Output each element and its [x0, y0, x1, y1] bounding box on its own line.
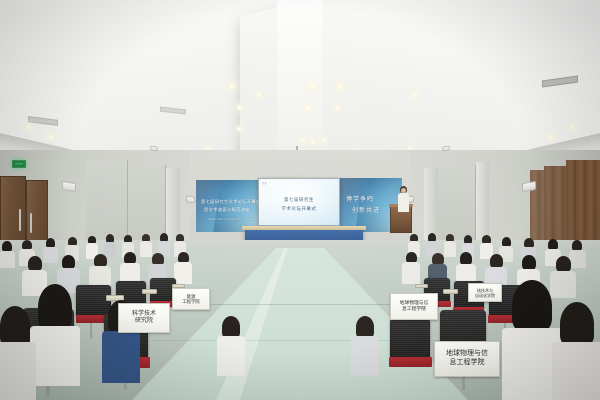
downlight [26, 124, 32, 130]
hair [0, 306, 30, 346]
seat-sign-left-front-line1: 科学技术 [132, 311, 156, 319]
ceiling-center-spine [277, 0, 323, 175]
downlight [228, 82, 236, 90]
hair [560, 302, 594, 346]
hair [38, 284, 72, 330]
seat-sign-right-mid-line2: 息工程学院 [402, 307, 426, 313]
torso [351, 336, 379, 376]
downlight [322, 138, 327, 143]
seat-sign-right-front: 地球物理与信 息工程学院 [434, 341, 500, 377]
hair [62, 255, 75, 269]
banner-right-line1: 博学争鸣 [346, 196, 374, 205]
seat-sign-left-mid-line2: 工程学院 [182, 299, 200, 305]
lecture-hall-photo: 第七届研究生学术论坛开幕式 暨学术道德与规范讲座 CHENGDU UNIVERS… [0, 0, 600, 400]
banner-left-line2: 暨学术道德与规范讲座 [204, 206, 250, 213]
seat-sign-right-mid: 地球物理与信 息工程学院 [390, 293, 438, 320]
hair [222, 316, 240, 338]
torso [30, 326, 80, 386]
torso [102, 331, 140, 383]
seat-sign-right-far-line2: 自动化学院 [475, 293, 495, 298]
seat-sign-left-front-line2: 研究院 [135, 318, 153, 326]
downlight [236, 104, 243, 111]
banner-left-subline: CHENGDU UNIVERSITY OF TECHNOLOGY [208, 216, 258, 223]
downlight [308, 82, 316, 90]
seat-sign-right-far: 核技术与 自动化学院 [468, 283, 502, 302]
torso [552, 342, 600, 400]
downlight [412, 92, 418, 98]
downlight [336, 82, 344, 90]
downlight [334, 104, 341, 111]
ceiling [0, 0, 600, 175]
speaker-at-podium [396, 186, 410, 212]
wall-speaker-left-2 [186, 196, 195, 204]
hair [512, 280, 552, 332]
downlight [570, 124, 576, 130]
downlight [256, 92, 262, 98]
downlight [48, 134, 54, 140]
torso [217, 336, 245, 376]
downlight [300, 138, 305, 143]
downlight [310, 140, 315, 145]
seat-sign-right-front-line1: 地球物理与信 [446, 350, 488, 359]
seat-sign-left-front: 科学技术 研究院 [118, 303, 170, 333]
screen-title-line2: 学术论坛开幕式 [259, 205, 339, 212]
banner-left: 第七届研究生学术论坛开幕式 暨学术道德与规范讲座 CHENGDU UNIVERS… [196, 180, 258, 232]
screen-corner-label: 投影 [262, 181, 267, 185]
ceiling-speaker-left [150, 145, 158, 151]
downlight [548, 134, 554, 140]
seat-sign-left-mid: 能源 工程学院 [172, 288, 210, 310]
speaker-body [398, 193, 409, 212]
downlight [236, 126, 242, 132]
banner-left-line1: 第七届研究生学术论坛开幕式 [201, 198, 258, 205]
projection-screen: 投影 第七届研究生 学术论坛开幕式 [258, 178, 340, 226]
hair [490, 254, 503, 268]
seat-sign-right-front-line2: 息工程学院 [450, 359, 485, 368]
hair [356, 316, 374, 338]
screen-title-line1: 第七届研究生 [259, 196, 339, 203]
audience-foreground [0, 280, 600, 400]
exit-sign [12, 160, 26, 168]
torso [0, 342, 36, 400]
banner-right-line2: 创新共进 [352, 207, 380, 216]
downlight [304, 104, 311, 111]
